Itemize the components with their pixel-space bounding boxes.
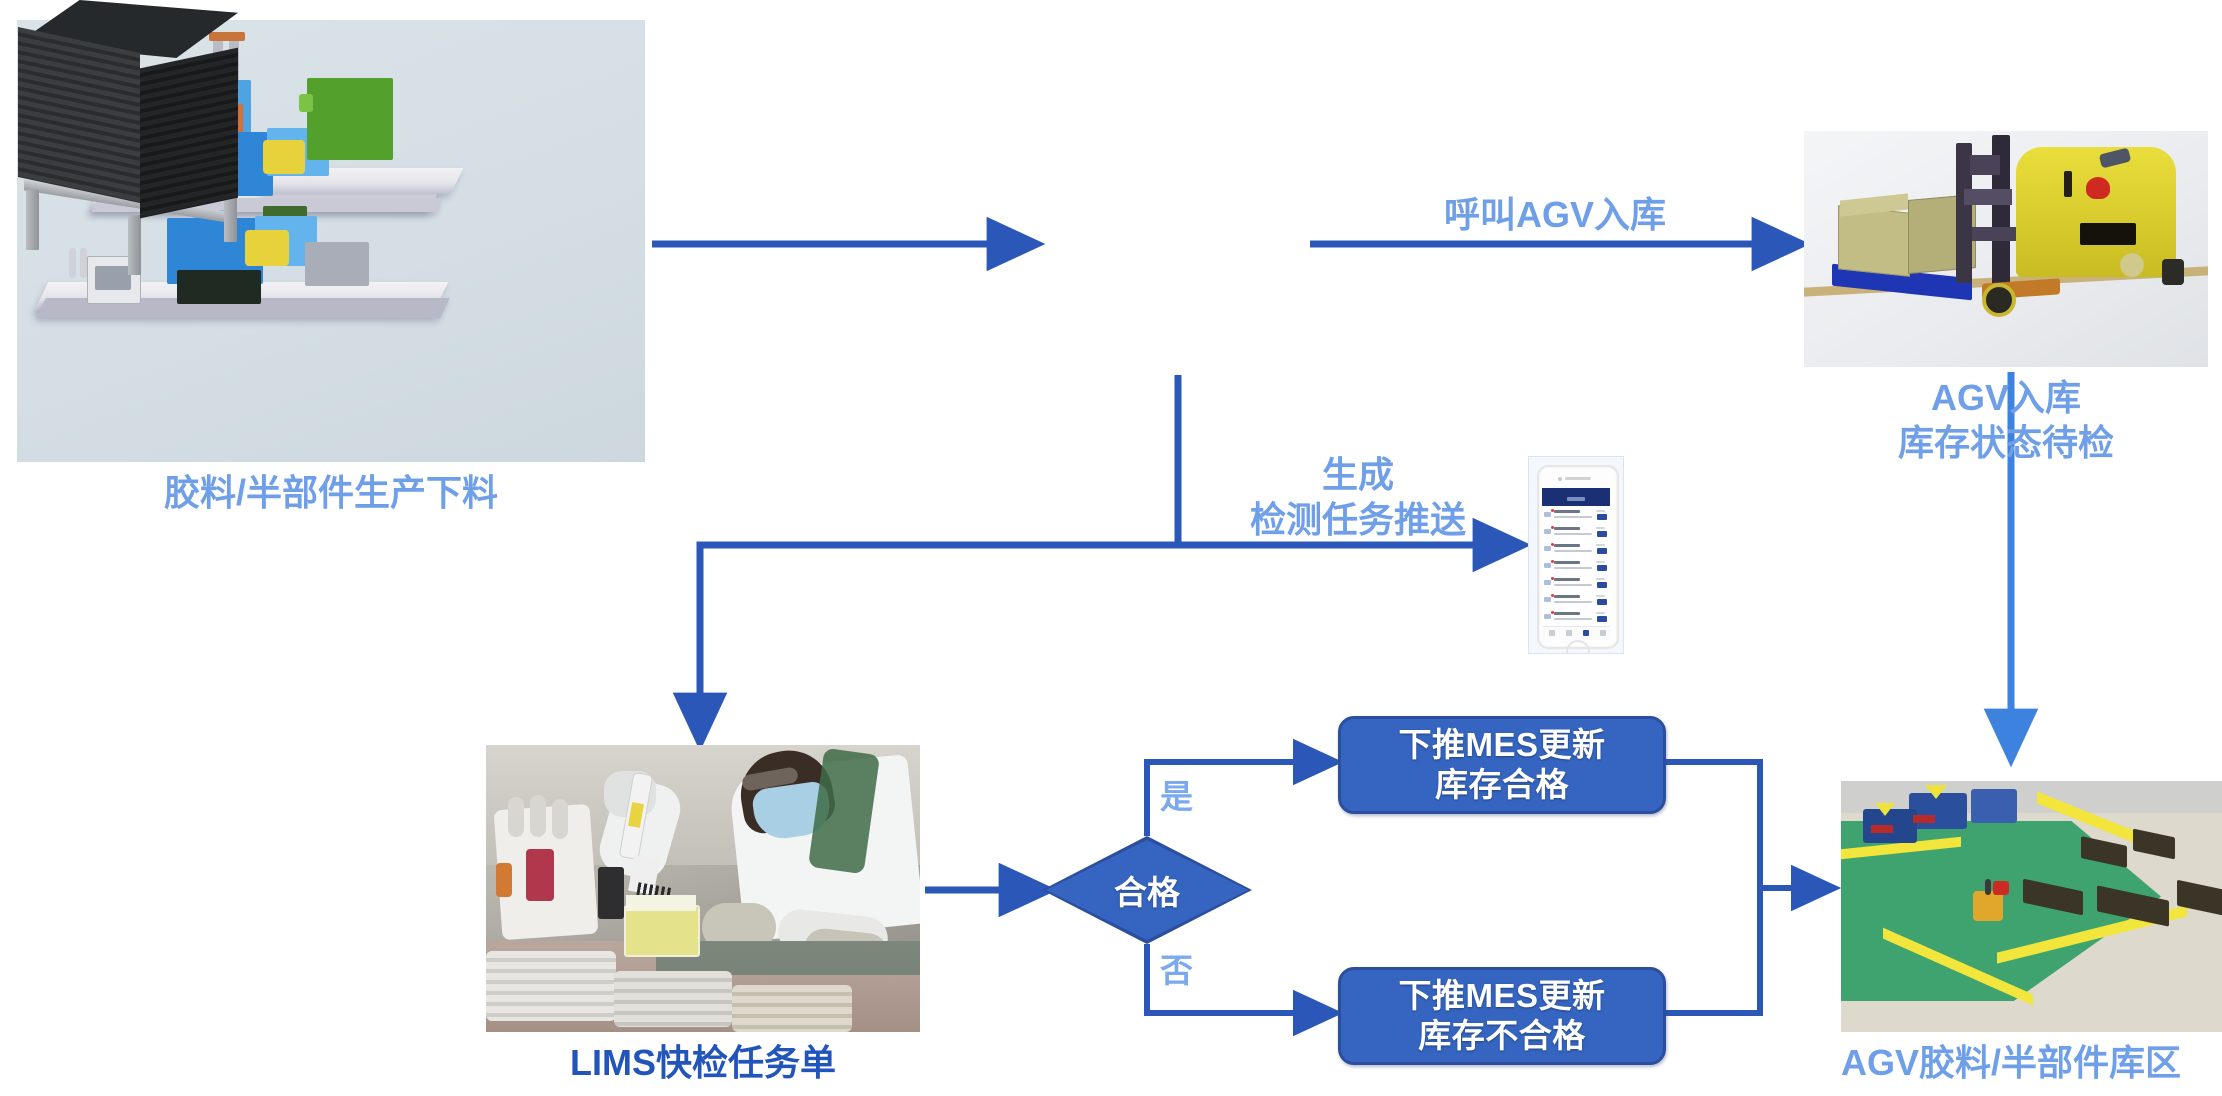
agv-forklift-image: [1804, 131, 2208, 367]
row-subtitle: [1554, 516, 1592, 518]
row-subtitle: [1554, 533, 1592, 535]
branch-label-yes: 是: [1160, 770, 1193, 818]
row-action-button[interactable]: [1597, 582, 1607, 588]
tab-profile-icon[interactable]: [1600, 630, 1606, 636]
list-item[interactable]: [1542, 609, 1610, 627]
tab-tasks-icon[interactable]: [1583, 630, 1589, 636]
edge-label-generate-task: 生成 检测任务推送: [1208, 452, 1508, 542]
row-thumb-icon: [1544, 614, 1551, 619]
agv-caption-line1: AGV入库: [1804, 375, 2208, 420]
row-subtitle: [1554, 567, 1592, 569]
list-item[interactable]: [1542, 558, 1610, 576]
agv-caption-line2: 库存状态待检: [1804, 420, 2208, 465]
row-meta: [1596, 595, 1605, 597]
list-item[interactable]: [1542, 507, 1610, 525]
row-title: [1554, 595, 1580, 598]
row-subtitle: [1554, 584, 1592, 586]
row-meta: [1596, 561, 1605, 563]
row-title: [1554, 578, 1580, 581]
tab-home-icon[interactable]: [1549, 630, 1555, 636]
phone-body: [1537, 465, 1619, 649]
mes-pass-node[interactable]: 下推MES更新 库存合格: [1338, 716, 1666, 814]
list-item[interactable]: [1542, 575, 1610, 593]
mes-fail-line2: 库存不合格: [1418, 1016, 1586, 1056]
edge-mes-fail-out: [1660, 888, 1760, 1013]
edge-label-line2: 检测任务推送: [1208, 497, 1508, 542]
stack-side-face: [140, 48, 238, 219]
row-title: [1554, 510, 1580, 513]
row-meta: [1596, 527, 1605, 529]
edge-mes-pass-out: [1660, 762, 1760, 888]
production-caption: 胶料/半部件生产下料: [17, 470, 645, 515]
stack-front-face: [18, 27, 140, 203]
row-action-button[interactable]: [1597, 565, 1607, 571]
row-title: [1554, 561, 1580, 564]
mes-pass-line1: 下推MES更新: [1398, 725, 1605, 765]
row-action-button[interactable]: [1597, 599, 1607, 605]
row-subtitle: [1554, 601, 1592, 603]
row-meta: [1596, 544, 1605, 546]
row-action-button[interactable]: [1597, 514, 1607, 520]
row-thumb-icon: [1544, 580, 1551, 585]
row-thumb-icon: [1544, 529, 1551, 534]
row-meta: [1596, 578, 1605, 580]
lims-lab-image: [486, 745, 920, 1032]
list-item[interactable]: [1542, 541, 1610, 559]
row-title: [1554, 544, 1580, 547]
row-title: [1554, 527, 1580, 530]
row-thumb-icon: [1544, 597, 1551, 602]
phone-header-title: [1567, 497, 1585, 501]
warehouse-caption: AGV胶料/半部件库区: [1800, 1040, 2222, 1085]
row-subtitle: [1554, 550, 1592, 552]
flow-diagram-canvas: 胶料/半部件生产下料 呼叫AGV入库 AGV: [0, 0, 2222, 1096]
phone-app-header: [1542, 488, 1610, 506]
row-subtitle: [1554, 618, 1592, 620]
phone-speaker-icon: [1565, 477, 1591, 480]
row-action-button[interactable]: [1597, 616, 1607, 622]
agv-caption: AGV入库 库存状态待检: [1804, 375, 2208, 465]
edge-label-call-agv: 呼叫AGV入库: [1390, 192, 1720, 237]
row-action-button[interactable]: [1597, 531, 1607, 537]
mes-fail-line1: 下推MES更新: [1398, 976, 1605, 1016]
phone-tab-bar[interactable]: [1542, 626, 1610, 640]
list-item[interactable]: [1542, 592, 1610, 610]
row-thumb-icon: [1544, 546, 1551, 551]
list-item[interactable]: [1542, 524, 1610, 542]
row-title: [1554, 612, 1580, 615]
row-meta: [1596, 612, 1605, 614]
lims-caption: LIMS快检任务单: [486, 1040, 920, 1085]
row-meta: [1596, 510, 1605, 512]
row-thumb-icon: [1544, 563, 1551, 568]
phone-camera-icon: [1558, 477, 1562, 481]
warehouse-image: [1841, 781, 2222, 1032]
decision-label: 合格: [1114, 866, 1180, 914]
row-thumb-icon: [1544, 512, 1551, 517]
mobile-push-image: [1528, 456, 1624, 654]
tab-list-icon[interactable]: [1566, 630, 1572, 636]
phone-home-button[interactable]: [1566, 640, 1590, 654]
decision-node[interactable]: 合格: [1046, 840, 1248, 940]
mes-pass-line2: 库存合格: [1435, 765, 1569, 805]
edge-label-line1: 生成: [1208, 452, 1508, 497]
row-action-button[interactable]: [1597, 548, 1607, 554]
mes-fail-node[interactable]: 下推MES更新 库存不合格: [1338, 967, 1666, 1065]
edge-trunk-to-lims: [700, 545, 1178, 736]
branch-label-no: 否: [1160, 944, 1193, 992]
